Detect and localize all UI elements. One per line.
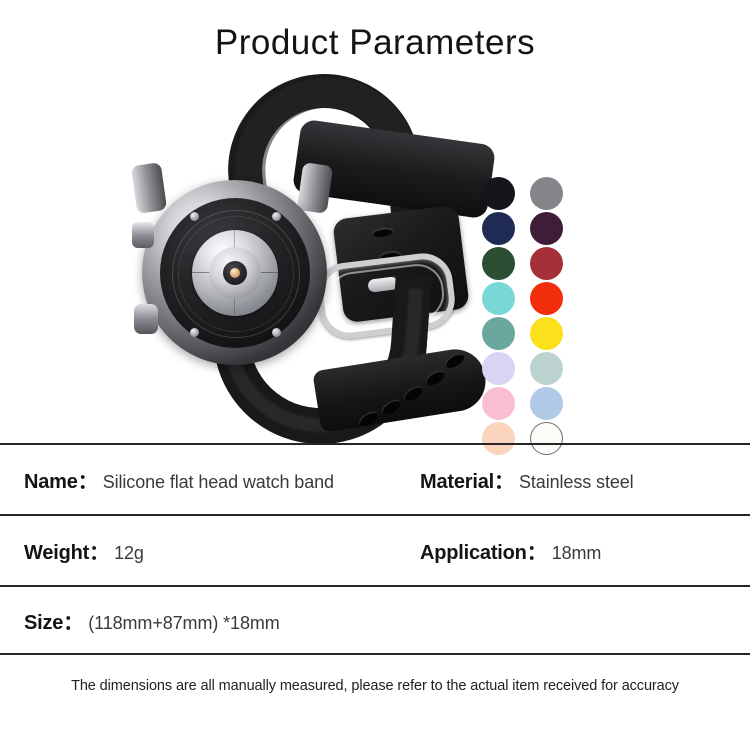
color-swatch-dark-green[interactable] [482,247,515,280]
spec-colon: ： [89,536,109,565]
spec-colon: ： [78,465,98,494]
band-hole [423,368,447,388]
measurement-note-row: The dimensions are all manually measured… [0,655,750,717]
color-swatch-lavender[interactable] [482,352,515,385]
heart-rate-sensor-led [230,268,240,278]
color-swatch-yellow[interactable] [530,317,563,350]
color-swatch-light-blue[interactable] [530,387,563,420]
spec-row-name-material: Name ： Silicone flat head watch band Mat… [0,445,750,514]
spec-row-weight-application: Weight ： 12g Application ： 18mm [0,516,750,585]
measurement-note: The dimensions are all manually measured… [71,678,679,694]
case-screw [190,328,199,337]
color-swatch-pink[interactable] [482,387,515,420]
band-hole [443,351,467,371]
spec-cell-size: Size ： (118mm+87mm) *18mm [24,606,280,635]
color-swatch-brick-red[interactable] [530,247,563,280]
color-swatch-bright-red[interactable] [530,282,563,315]
color-swatch-black[interactable] [482,177,515,210]
buckle-slot [372,227,395,239]
spec-cell-name: Name ： Silicone flat head watch band [24,465,420,494]
spec-row-size: Size ： (118mm+87mm) *18mm [0,587,750,653]
spec-cell-material: Material ： Stainless steel [420,465,634,494]
spec-colon: ： [527,536,547,565]
spec-label-material: Material [420,471,494,494]
spec-cell-weight: Weight ： 12g [24,536,420,565]
spec-label-weight: Weight [24,542,89,565]
watch-side-button-top [132,222,154,248]
color-swatch-dark-purple[interactable] [530,212,563,245]
band-hole [402,383,426,403]
color-swatch-pale-sage[interactable] [530,352,563,385]
spec-value-size: (118mm+87mm) *18mm [88,613,279,634]
product-hero [0,67,750,432]
color-swatch-grid [476,177,568,456]
spec-value-material: Stainless steel [519,472,634,493]
case-screw [272,328,281,337]
page-title: Product Parameters [0,0,750,67]
case-screw [272,212,281,221]
watch-side-button-bottom [134,304,158,334]
color-swatch-turquoise[interactable] [482,282,515,315]
band-hole [379,397,403,417]
specification-table: Name ： Silicone flat head watch band Mat… [0,443,750,717]
spec-label-name: Name [24,471,78,494]
spec-colon: ： [63,606,83,635]
spec-value-name: Silicone flat head watch band [103,472,334,493]
spec-value-application: 18mm [552,543,602,564]
spec-label-size: Size [24,612,63,635]
spec-label-application: Application [420,542,527,565]
spec-colon: ： [494,465,514,494]
color-swatch-navy-blue[interactable] [482,212,515,245]
watch-case-lug-left [131,162,167,214]
color-swatch-teal-sage[interactable] [482,317,515,350]
product-image [120,72,480,427]
spec-value-weight: 12g [114,543,144,564]
case-screw [190,212,199,221]
color-swatch-gray[interactable] [530,177,563,210]
spec-cell-application: Application ： 18mm [420,536,601,565]
